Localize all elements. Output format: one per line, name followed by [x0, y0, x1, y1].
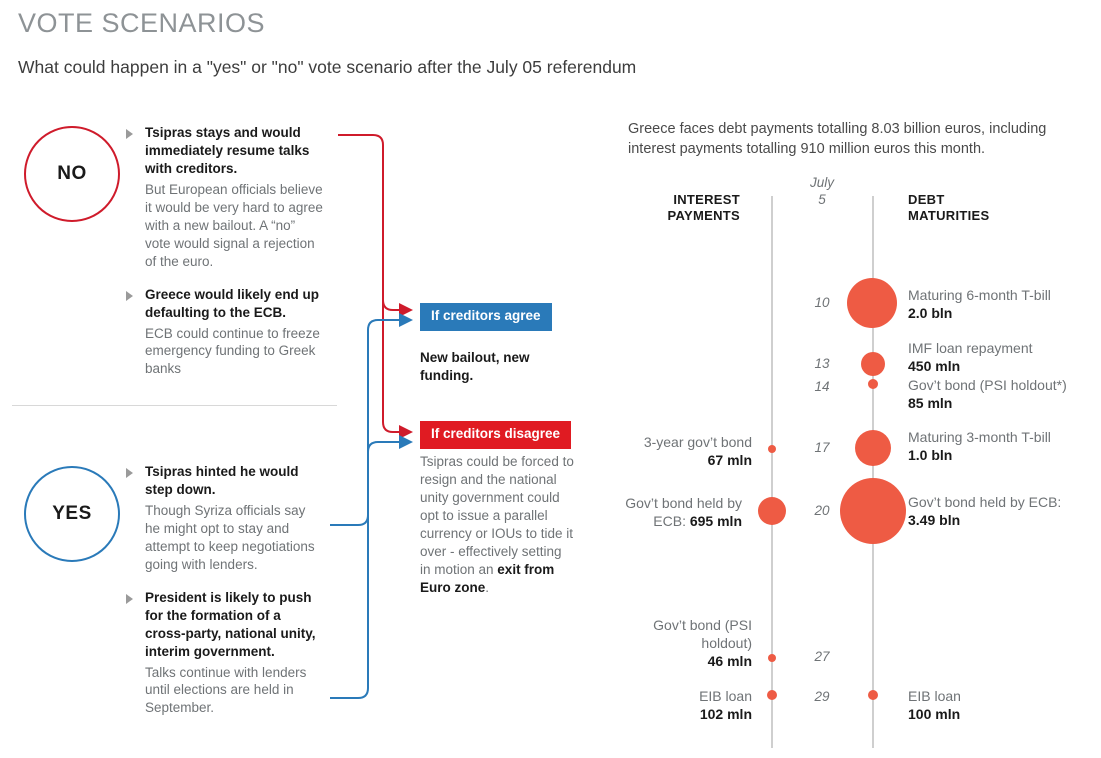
maturity-item-14-value: 85 mln [908, 395, 952, 411]
bubble-interest-17 [768, 445, 776, 453]
interest-item-27-value: 46 mln [708, 653, 752, 669]
outcome-disagree-body: Tsipras could be forced to resign and th… [420, 453, 575, 597]
bubble-interest-29 [767, 690, 777, 700]
scenario-no-points: Tsipras stays and would immediately resu… [124, 124, 324, 378]
maturity-item-17: Maturing 3-month T-bill 1.0 bln [908, 428, 1098, 464]
bubble-maturity-13 [861, 352, 885, 376]
maturity-item-13-label: IMF loan repayment [908, 340, 1033, 356]
bullet-item: President is likely to push for the form… [124, 589, 324, 718]
bullet-item: Tsipras hinted he would step down. Thoug… [124, 463, 324, 574]
maturity-item-13: IMF loan repayment 450 mln [908, 339, 1093, 375]
interest-payments-header-line2: PAYMENTS [628, 208, 740, 224]
page-title: VOTE SCENARIOS [18, 8, 265, 39]
scenario-badge-yes: YES [24, 466, 120, 562]
scenario-badge-no-label: NO [57, 163, 87, 185]
maturity-item-14-label: Gov’t bond (PSI holdout*) [908, 377, 1067, 393]
date-label-13: 13 [792, 356, 852, 371]
bubble-interest-20 [758, 497, 786, 525]
interest-item-17: 3-year gov’t bond 67 mln [600, 433, 752, 469]
bullet-head: President is likely to push for the form… [145, 589, 324, 661]
interest-item-20: Gov’t bond held by ECB: 695 mln [590, 494, 742, 530]
outcome-disagree: If creditors disagree [420, 421, 571, 449]
maturity-item-13-value: 450 mln [908, 358, 960, 374]
bubble-maturity-10 [847, 278, 897, 328]
bullet-head: Tsipras stays and would immediately resu… [145, 124, 324, 178]
scenario-yes-points: Tsipras hinted he would step down. Thoug… [124, 463, 324, 717]
connector-no-to-disagree [383, 145, 411, 432]
bubble-interest-27 [768, 654, 776, 662]
bubble-maturity-29 [868, 690, 878, 700]
bullet-head: Tsipras hinted he would step down. [145, 463, 324, 499]
infographic-root: VOTE SCENARIOS What could happen in a "y… [0, 0, 1101, 758]
date-label-29: 29 [792, 689, 852, 704]
outcome-disagree-label: If creditors disagree [420, 421, 571, 449]
connector-no-to-agree [338, 135, 411, 310]
scenario-badge-no: NO [24, 126, 120, 222]
maturity-item-29-label: EIB loan [908, 688, 961, 704]
maturity-item-20: Gov’t bond held by ECB: 3.49 bln [908, 493, 1093, 529]
date-label-27: 27 [792, 649, 852, 664]
section-divider [12, 405, 337, 406]
debt-maturities-column-header: DEBT MATURITIES [908, 192, 989, 225]
maturity-item-14: Gov’t bond (PSI holdout*) 85 mln [908, 376, 1098, 412]
maturity-item-10: Maturing 6-month T-bill 2.0 bln [908, 286, 1093, 322]
connector-yes-to-disagree [330, 442, 411, 698]
bubble-maturity-14 [868, 379, 878, 389]
maturity-item-17-value: 1.0 bln [908, 447, 952, 463]
interest-item-29: EIB loan 102 mln [600, 687, 752, 723]
maturity-item-17-label: Maturing 3-month T-bill [908, 429, 1051, 445]
scenario-badge-yes-label: YES [52, 503, 92, 525]
maturity-item-10-value: 2.0 bln [908, 305, 952, 321]
interest-item-27: Gov’t bond (PSI holdout) 46 mln [600, 616, 752, 671]
bullet-body: But European officials believe it would … [145, 181, 324, 271]
triangle-bullet-icon [126, 129, 133, 139]
outcome-agree: If creditors agree [420, 303, 552, 331]
maturity-item-29: EIB loan 100 mln [908, 687, 1093, 723]
bullet-body: Talks continue with lenders until electi… [145, 664, 324, 718]
interest-payments-header-line1: INTEREST [628, 192, 740, 208]
month-start-day: 5 [792, 192, 852, 207]
interest-item-29-value: 102 mln [700, 706, 752, 722]
interest-payments-column-header: INTEREST PAYMENTS [628, 192, 740, 225]
date-label-17: 17 [792, 440, 852, 455]
interest-axis-line [771, 196, 773, 748]
bullet-body: Though Syriza officials say he might opt… [145, 502, 324, 574]
triangle-bullet-icon [126, 468, 133, 478]
month-label: July [792, 175, 852, 190]
debt-maturities-header-line1: DEBT [908, 192, 989, 208]
bubble-maturity-17 [855, 430, 891, 466]
bullet-item: Tsipras stays and would immediately resu… [124, 124, 324, 271]
interest-item-17-value: 67 mln [708, 452, 752, 468]
connector-yes-to-agree [330, 320, 411, 525]
interest-item-27-label: Gov’t bond (PSI holdout) [653, 617, 752, 651]
debt-maturities-header-line2: MATURITIES [908, 208, 989, 224]
interest-item-17-label: 3-year gov’t bond [644, 434, 752, 450]
maturity-item-29-value: 100 mln [908, 706, 960, 722]
triangle-bullet-icon [126, 594, 133, 604]
date-label-14: 14 [792, 379, 852, 394]
bubble-maturity-20 [840, 478, 906, 544]
page-subtitle: What could happen in a "yes" or "no" vot… [18, 57, 636, 78]
triangle-bullet-icon [126, 291, 133, 301]
debt-panel-intro: Greece faces debt payments totalling 8.0… [628, 120, 1080, 159]
maturity-item-20-value: 3.49 bln [908, 512, 960, 528]
interest-item-29-label: EIB loan [699, 688, 752, 704]
interest-item-20-value: 695 mln [690, 513, 742, 529]
date-label-10: 10 [792, 295, 852, 310]
maturity-item-20-label: Gov’t bond held by ECB: [908, 494, 1061, 510]
bullet-item: Greece would likely end up defaulting to… [124, 286, 324, 379]
bullet-body: ECB could continue to freeze emergency f… [145, 325, 324, 379]
outcome-agree-body: New bailout, new funding. [420, 349, 575, 385]
maturity-item-10-label: Maturing 6-month T-bill [908, 287, 1051, 303]
bullet-head: Greece would likely end up defaulting to… [145, 286, 324, 322]
outcome-agree-label: If creditors agree [420, 303, 552, 331]
